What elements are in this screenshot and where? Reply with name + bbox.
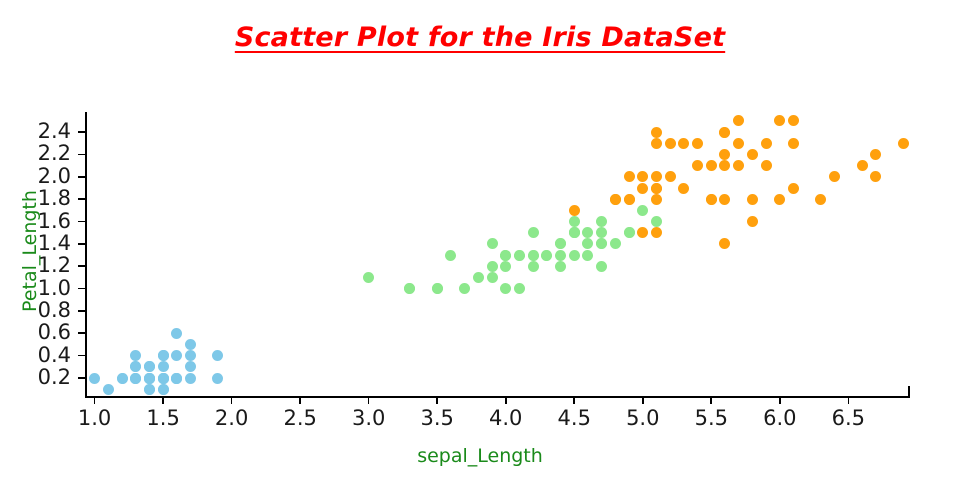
y-tick-mark	[78, 221, 85, 223]
y-tick-label: 2.4	[0, 121, 71, 142]
y-tick-mark	[78, 265, 85, 267]
y-axis-label: Petal_Length	[19, 161, 41, 341]
y-tick-mark	[78, 154, 85, 156]
x-tick-mark	[94, 397, 96, 404]
y-tick-label: 0.2	[0, 367, 71, 388]
y-tick-mark	[78, 355, 85, 357]
x-tick-mark	[779, 397, 781, 404]
y-tick-mark	[78, 288, 85, 290]
x-tick-label: 6.5	[808, 408, 888, 429]
y-tick-mark	[78, 198, 85, 200]
y-tick-mark	[78, 310, 85, 312]
y-tick-label: 0.4	[0, 345, 71, 366]
x-tick-mark	[368, 397, 370, 404]
x-tick-mark	[505, 397, 507, 404]
x-tick-mark	[231, 397, 233, 404]
y-tick-mark	[78, 243, 85, 245]
x-tick-mark	[162, 397, 164, 404]
scatter-plot-figure: Scatter Plot for the Iris DataSet 0.20.4…	[0, 0, 960, 500]
x-tick-mark	[710, 397, 712, 404]
x-tick-mark	[436, 397, 438, 404]
y-tick-mark	[78, 332, 85, 334]
x-tick-mark	[299, 397, 301, 404]
y-tick-mark	[78, 377, 85, 379]
page-title: Scatter Plot for the Iris DataSet	[0, 22, 960, 53]
x-tick-mark	[573, 397, 575, 404]
x-tick-mark	[642, 397, 644, 404]
y-tick-mark	[78, 176, 85, 178]
y-tick-mark	[78, 131, 85, 133]
x-axis-label: sepal_Length	[0, 445, 960, 467]
x-tick-mark	[848, 397, 850, 404]
plot-area	[85, 112, 910, 397]
